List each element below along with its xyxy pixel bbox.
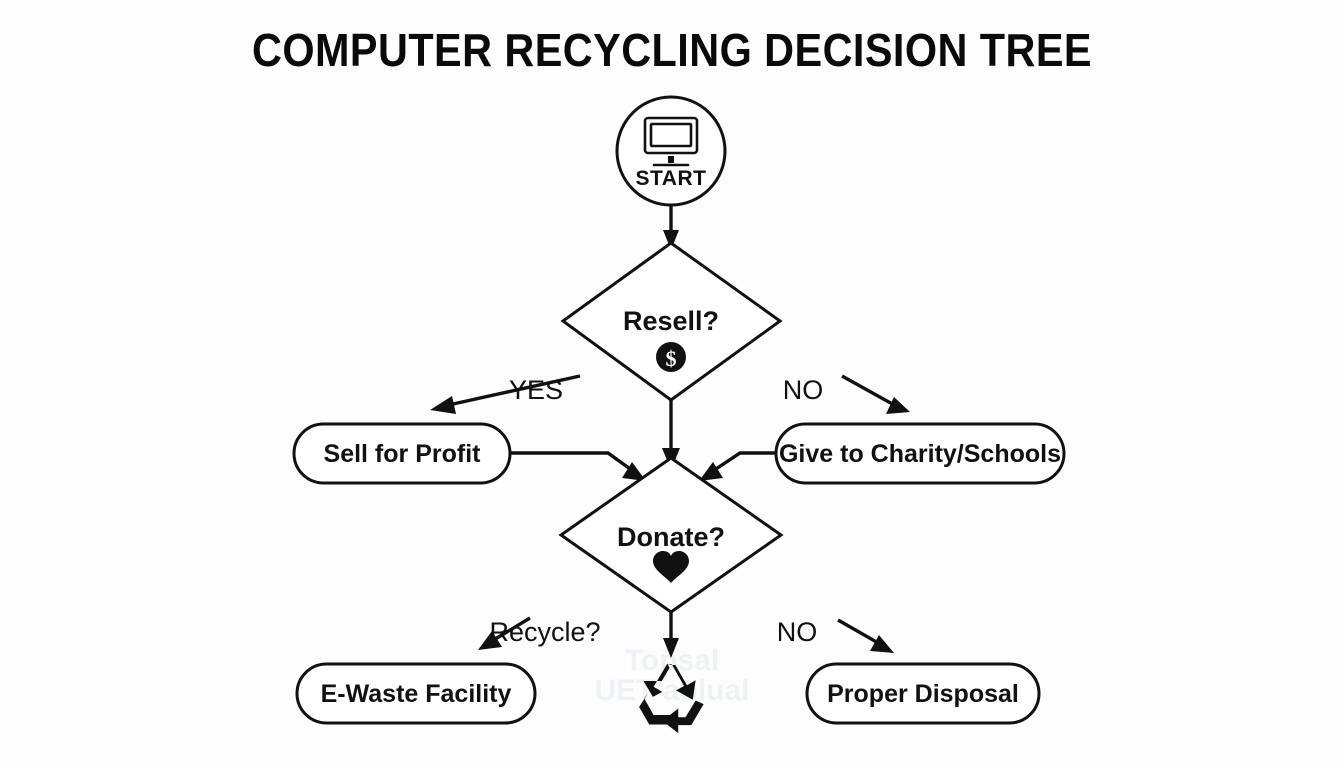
node-start[interactable]: START bbox=[617, 97, 725, 205]
resell-label: Resell? bbox=[623, 306, 719, 336]
ewaste-facility-label: E-Waste Facility bbox=[321, 680, 512, 708]
watermark-line-2: UET aolual bbox=[594, 674, 749, 707]
node-give-to-charity[interactable]: Give to Charity/Schools bbox=[776, 424, 1064, 483]
flowchart-svg: Topsal UET aolual COMPUTER RECYCLING DEC… bbox=[0, 0, 1344, 768]
node-ewaste-facility[interactable]: E-Waste Facility bbox=[297, 664, 535, 723]
give-to-charity-label: Give to Charity/Schools bbox=[779, 440, 1061, 468]
sell-for-profit-label: Sell for Profit bbox=[324, 440, 482, 468]
start-label: START bbox=[636, 167, 707, 190]
edge-label-resell-yes: YES bbox=[509, 375, 563, 405]
edge-label-resell-no: NO bbox=[783, 375, 824, 405]
proper-disposal-label: Proper Disposal bbox=[827, 680, 1019, 708]
node-sell-for-profit[interactable]: Sell for Profit bbox=[294, 424, 510, 483]
page-title: COMPUTER RECYCLING DECISION TREE bbox=[252, 24, 1092, 76]
node-proper-disposal[interactable]: Proper Disposal bbox=[807, 664, 1039, 723]
svg-text:$: $ bbox=[666, 346, 677, 371]
donate-label: Donate? bbox=[617, 522, 725, 552]
diagram-canvas: Topsal UET aolual COMPUTER RECYCLING DEC… bbox=[0, 0, 1344, 768]
edge-label-donate-no: NO bbox=[777, 617, 818, 647]
dollar-coin-icon: $ bbox=[656, 342, 686, 372]
edge-label-donate-recycle: Recycle? bbox=[489, 617, 600, 647]
